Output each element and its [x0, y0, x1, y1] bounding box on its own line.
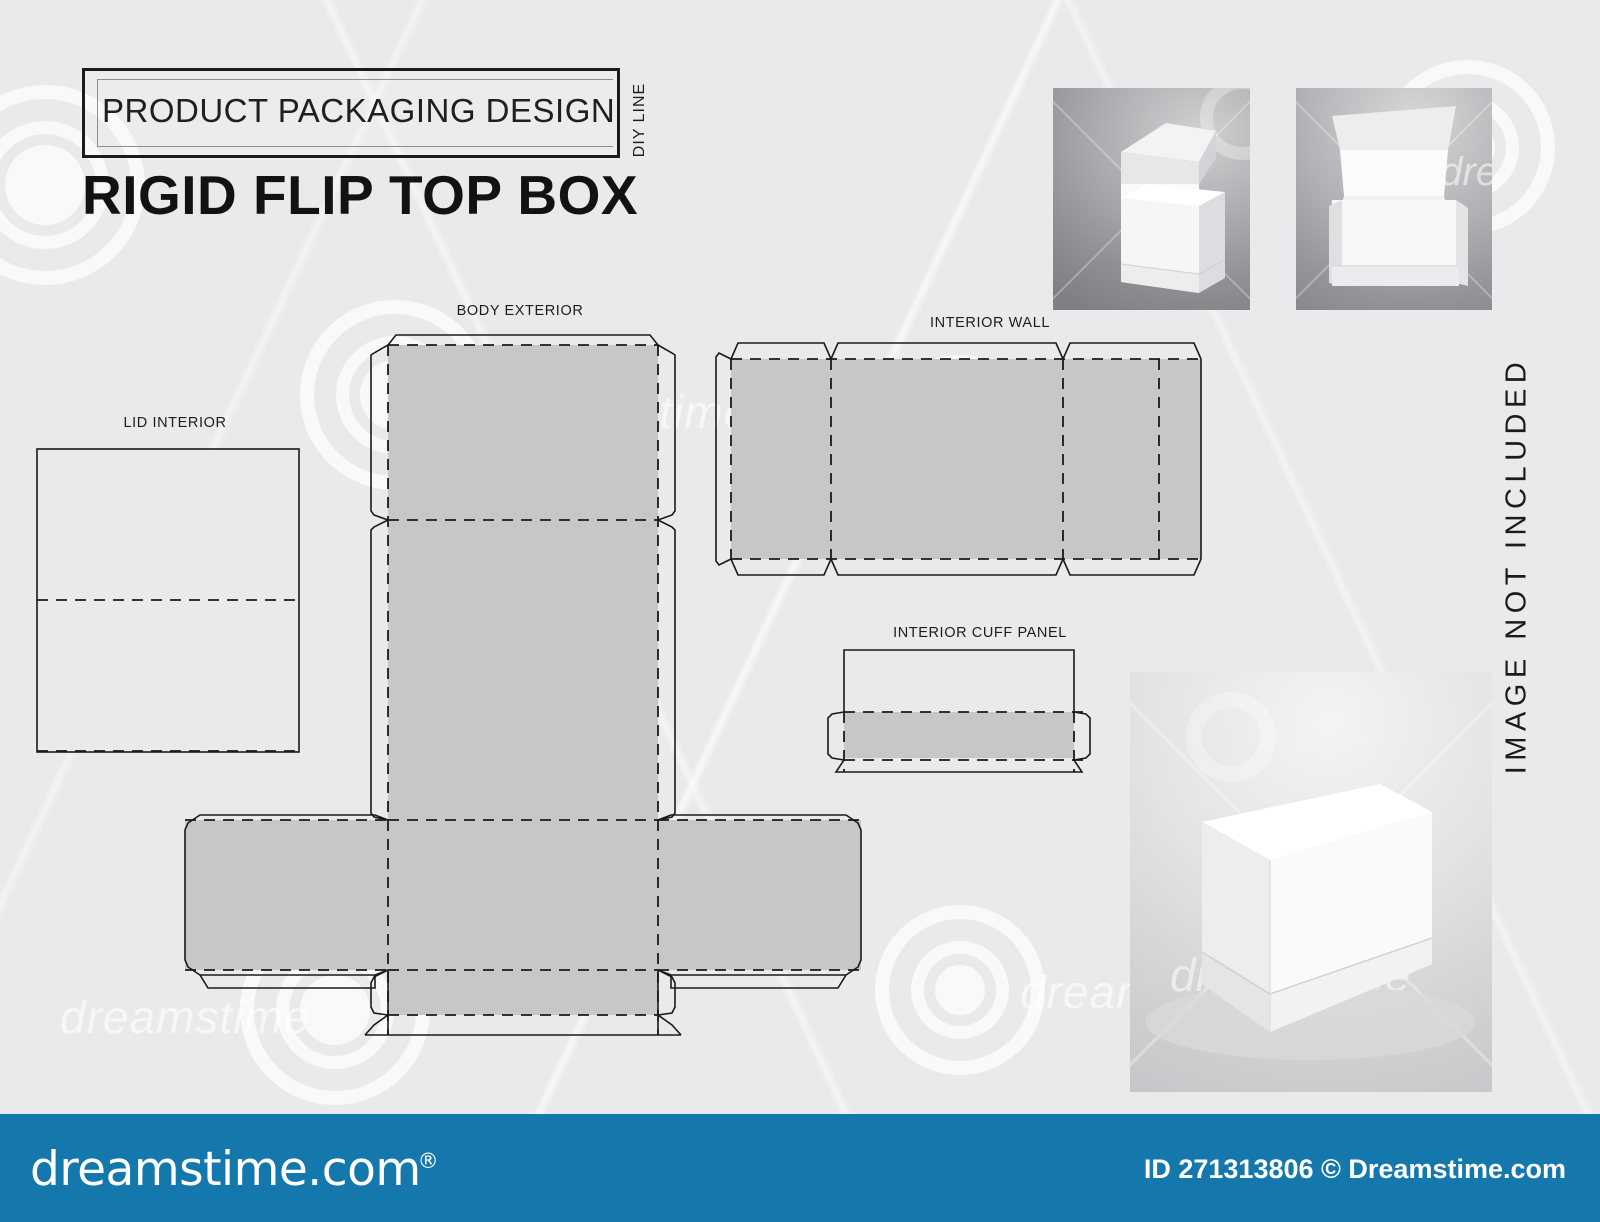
caption-interior-cuff-panel: INTERIOR CUFF PANEL: [840, 625, 1120, 641]
photo-open-box-front: dre: [1296, 88, 1492, 310]
image-not-included-text: IMAGE NOT INCLUDED: [1501, 356, 1534, 774]
image-not-included-notice: IMAGE NOT INCLUDED: [1492, 255, 1542, 875]
diy-line-text: DIY LINE: [631, 83, 649, 157]
image-credit: ID 271313806 © Dreamstime.com: [1144, 1154, 1566, 1185]
dreamstime-logo[interactable]: dreamstime.com®: [30, 1142, 438, 1197]
photo-closed-box: dreamstime: [1130, 672, 1492, 1092]
box-illustration: [1130, 672, 1492, 1092]
box-illustration: [1053, 88, 1250, 310]
photo-open-box-angled: [1053, 88, 1250, 310]
caption-interior-wall: INTERIOR WALL: [845, 315, 1135, 331]
page-subtitle: PRODUCT PACKAGING DESIGN: [102, 92, 612, 130]
dreamstime-logo-text: dreamstime.com: [30, 1142, 421, 1197]
diy-line-label: DIY LINE: [628, 72, 652, 168]
dieline-interior-cuff-panel: [820, 648, 1102, 778]
watermark-swirl: [875, 905, 1045, 1075]
registered-mark: ®: [418, 1149, 439, 1173]
caption-body-exterior: BODY EXTERIOR: [365, 303, 675, 319]
page-title: RIGID FLIP TOP BOX: [82, 163, 638, 227]
dieline-interior-wall: [705, 337, 1225, 582]
footer-bar: dreamstime.com® ID 271313806 © Dreamstim…: [0, 1114, 1600, 1222]
artwork-canvas: dreamstime dreamstime dreamstime PRODUCT…: [0, 0, 1600, 1114]
box-illustration: [1296, 88, 1492, 310]
